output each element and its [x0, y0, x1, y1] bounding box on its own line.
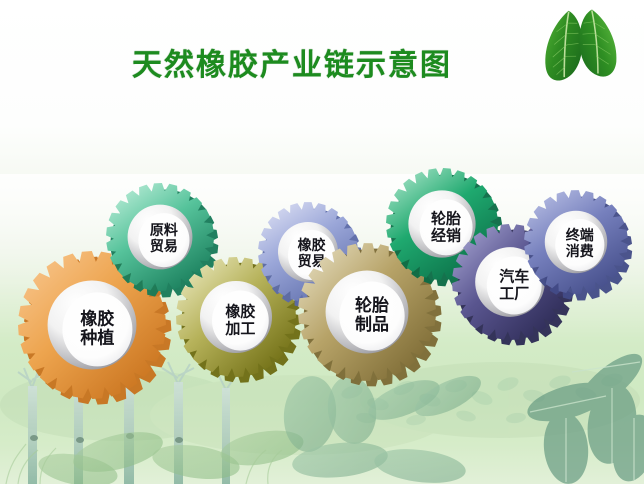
infographic-canvas: 天然橡胶产业链示意图	[0, 0, 644, 484]
gear-end-consumption[interactable]: 终端消费	[514, 180, 638, 304]
gear-hub-disc	[62, 292, 132, 366]
gear-hub-disc	[555, 219, 604, 271]
gear-hub-disc	[339, 282, 404, 351]
supply-chain-gear-diagram: 橡胶种植原料贸易橡胶加工橡胶贸易轮胎制品轮胎经销汽车工厂终端消费	[0, 0, 644, 484]
